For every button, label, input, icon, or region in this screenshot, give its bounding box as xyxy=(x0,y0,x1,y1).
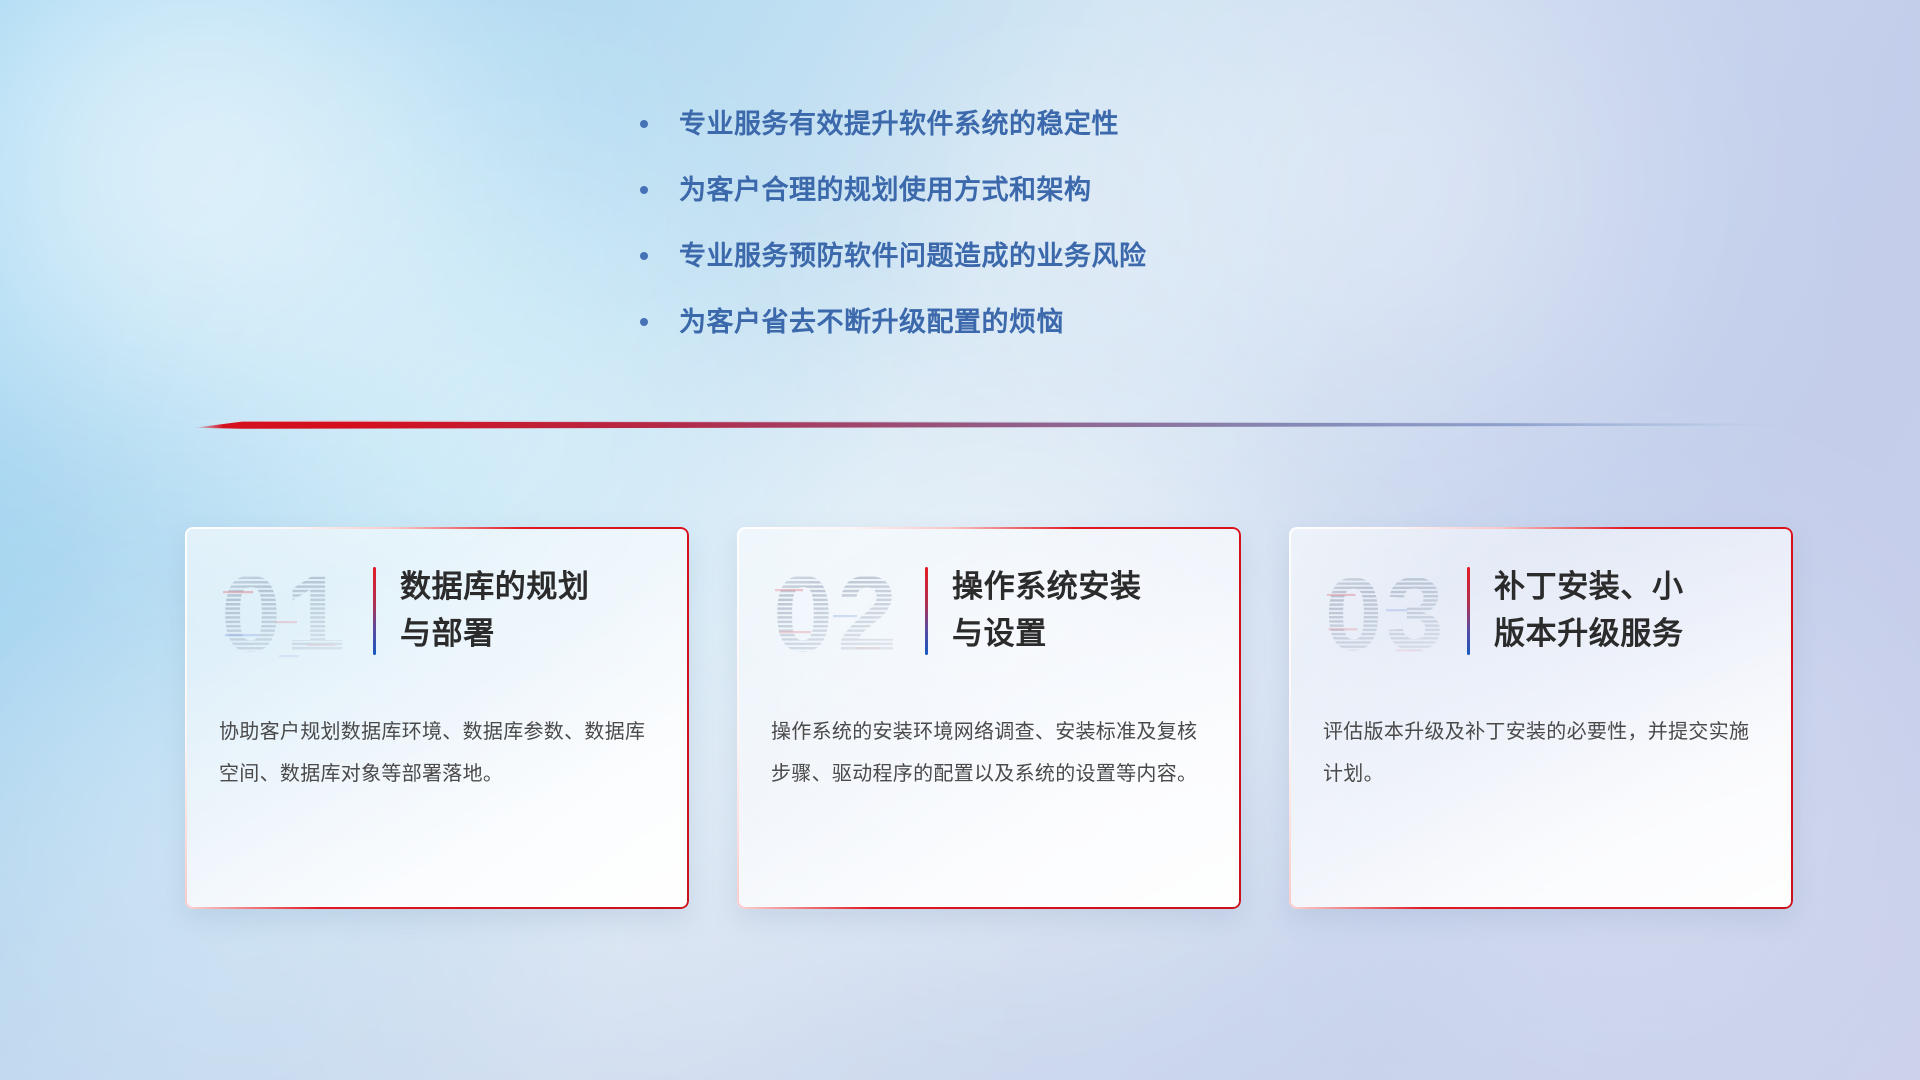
card-header: 03 补丁安装、小 版本升级服务 xyxy=(1323,563,1759,671)
card-title-line: 与部署 xyxy=(400,610,655,657)
service-card[interactable]: 02 操作系统安装 与设置 操作系统的安装环境网络调查、安装标准及复核步骤、驱动… xyxy=(737,527,1241,909)
card-title-line: 数据库的规划 xyxy=(400,563,655,610)
card-number-striped-icon: 03 xyxy=(1323,559,1453,667)
card-accent-bar xyxy=(373,567,376,655)
card-title-line: 版本升级服务 xyxy=(1494,610,1759,657)
bullet-dot-icon xyxy=(640,252,648,260)
highlight-text: 为客户合理的规划使用方式和架构 xyxy=(679,170,1092,210)
card-header: 02 操作系统安装 与设置 xyxy=(771,563,1207,671)
card-body-text: 操作系统的安装环境网络调查、安装标准及复核步骤、驱动程序的配置以及系统的设置等内… xyxy=(771,711,1207,795)
service-cards: 01 数据库的规划 与部署 协助客 xyxy=(185,527,1793,909)
list-item: 为客户省去不断升级配置的烦恼 xyxy=(640,302,1460,354)
slide-content: 专业服务有效提升软件系统的稳定性 为客户合理的规划使用方式和架构 专业服务预防软… xyxy=(0,0,1920,1080)
list-item: 专业服务预防软件问题造成的业务风险 xyxy=(640,236,1460,288)
bullet-dot-icon xyxy=(640,120,648,128)
card-accent-bar xyxy=(1467,567,1470,655)
card-title: 操作系统安装 与设置 xyxy=(952,563,1207,657)
card-title-line: 操作系统安装 xyxy=(952,563,1207,610)
service-card[interactable]: 03 补丁安装、小 版本升级服务 评估版本升级及补丁安装的必要性，并提交实施计划… xyxy=(1289,527,1793,909)
highlight-text: 专业服务有效提升软件系统的稳定性 xyxy=(679,104,1119,144)
card-accent-bar xyxy=(925,567,928,655)
card-title-line: 与设置 xyxy=(952,610,1207,657)
card-title: 数据库的规划 与部署 xyxy=(400,563,655,657)
highlight-text: 专业服务预防软件问题造成的业务风险 xyxy=(679,236,1147,276)
card-number-striped-icon: 01 xyxy=(219,559,355,667)
section-divider xyxy=(182,414,1804,436)
highlights-list: 专业服务有效提升软件系统的稳定性 为客户合理的规划使用方式和架构 专业服务预防软… xyxy=(640,104,1460,368)
highlight-text: 为客户省去不断升级配置的烦恼 xyxy=(679,302,1064,342)
bullet-dot-icon xyxy=(640,186,648,194)
list-item: 专业服务有效提升软件系统的稳定性 xyxy=(640,104,1460,156)
card-number-striped-icon: 02 xyxy=(771,559,907,667)
card-body-text: 协助客户规划数据库环境、数据库参数、数据库空间、数据库对象等部署落地。 xyxy=(219,711,655,795)
card-title-line: 补丁安装、小 xyxy=(1494,563,1759,610)
svg-text:02: 02 xyxy=(773,559,901,667)
card-body-text: 评估版本升级及补丁安装的必要性，并提交实施计划。 xyxy=(1323,711,1759,795)
svg-text:03: 03 xyxy=(1325,559,1447,667)
list-item: 为客户合理的规划使用方式和架构 xyxy=(640,170,1460,222)
card-header: 01 数据库的规划 与部署 xyxy=(219,563,655,671)
svg-text:01: 01 xyxy=(221,559,349,667)
bullet-dot-icon xyxy=(640,318,648,326)
card-title: 补丁安装、小 版本升级服务 xyxy=(1494,563,1759,657)
service-card[interactable]: 01 数据库的规划 与部署 协助客 xyxy=(185,527,689,909)
